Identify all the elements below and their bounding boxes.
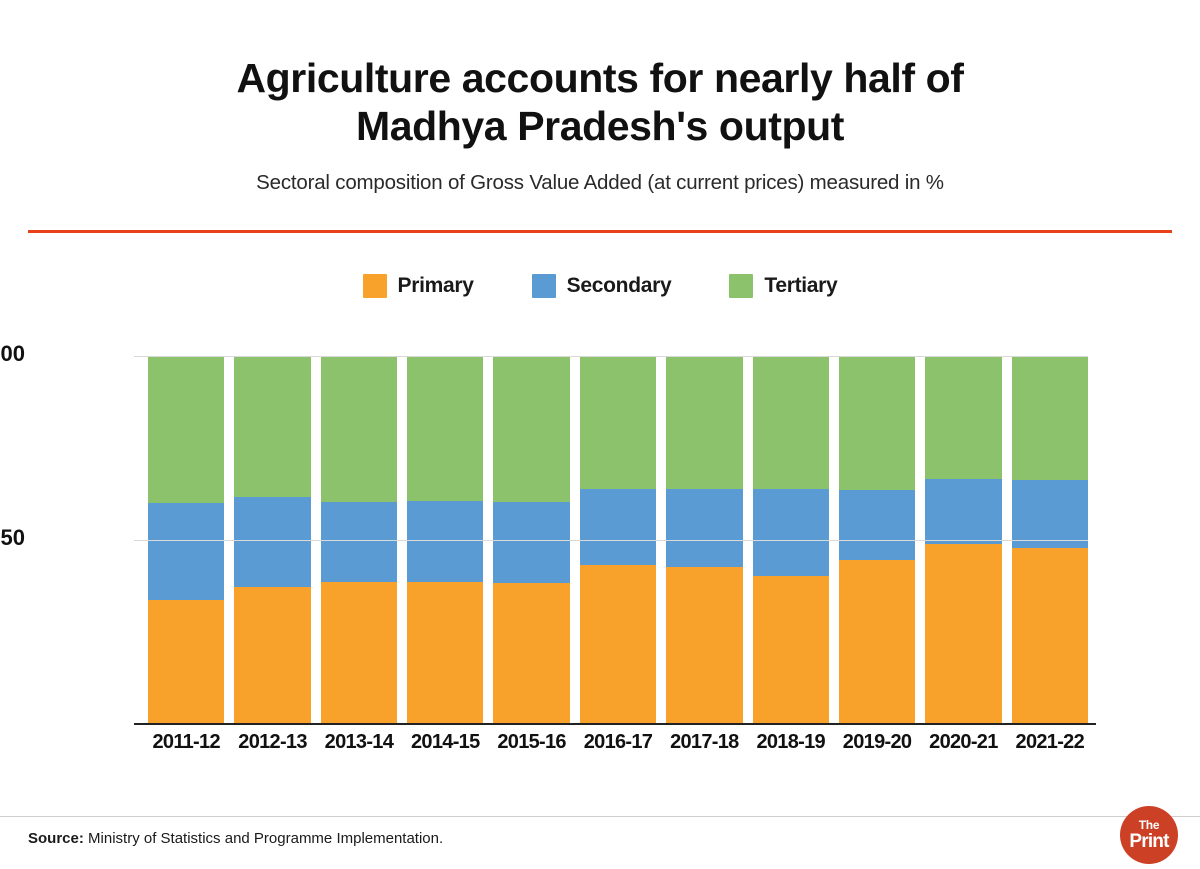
header: Agriculture accounts for nearly half of … bbox=[0, 0, 1200, 195]
legend-label-primary: Primary bbox=[398, 274, 474, 298]
legend-swatch-tertiary-icon bbox=[729, 274, 753, 298]
y-axis-tick-100: 100 bbox=[0, 341, 25, 367]
bar-column[interactable] bbox=[753, 356, 829, 723]
legend-item-secondary[interactable]: Secondary bbox=[532, 274, 672, 298]
logo-the-text: The bbox=[1139, 819, 1159, 831]
bar-segment-tertiary[interactable] bbox=[234, 356, 310, 497]
x-axis-labels: 2011-122012-132013-142014-152015-162016-… bbox=[148, 731, 1088, 754]
bar-segment-primary[interactable] bbox=[493, 583, 569, 723]
bar-segment-primary[interactable] bbox=[407, 582, 483, 723]
bar-segment-secondary[interactable] bbox=[1012, 480, 1088, 548]
bar-segment-primary[interactable] bbox=[666, 567, 742, 723]
bar-segment-tertiary[interactable] bbox=[321, 356, 397, 502]
bar-segment-tertiary[interactable] bbox=[753, 356, 829, 489]
bar-segment-secondary[interactable] bbox=[493, 502, 569, 583]
y-axis-tick-50: 50 bbox=[0, 525, 25, 551]
infographic-page: Agriculture accounts for nearly half of … bbox=[0, 0, 1200, 869]
bar-segment-secondary[interactable] bbox=[234, 497, 310, 587]
x-axis-label: 2015-16 bbox=[493, 731, 569, 754]
bar-column[interactable] bbox=[666, 356, 742, 723]
bar-column[interactable] bbox=[580, 356, 656, 723]
bar-segment-secondary[interactable] bbox=[753, 489, 829, 576]
bar-column[interactable] bbox=[234, 356, 310, 723]
footer-divider bbox=[0, 816, 1200, 817]
legend-label-tertiary: Tertiary bbox=[764, 274, 837, 298]
bar-segment-secondary[interactable] bbox=[925, 479, 1001, 544]
source-text: Ministry of Statistics and Programme Imp… bbox=[88, 830, 443, 847]
source-label: Source: bbox=[28, 830, 84, 847]
x-axis-label: 2013-14 bbox=[321, 731, 397, 754]
bar-segment-primary[interactable] bbox=[925, 544, 1001, 723]
x-axis-line bbox=[134, 723, 1096, 725]
bar-segment-tertiary[interactable] bbox=[839, 356, 915, 490]
x-axis-label: 2019-20 bbox=[839, 731, 915, 754]
gridline-100 bbox=[134, 356, 1088, 357]
bar-segment-primary[interactable] bbox=[1012, 548, 1088, 723]
x-axis-label: 2011-12 bbox=[148, 731, 224, 754]
bar-segment-primary[interactable] bbox=[580, 565, 656, 723]
page-title: Agriculture accounts for nearly half of … bbox=[150, 54, 1050, 150]
x-axis-label: 2017-18 bbox=[666, 731, 742, 754]
x-axis-label: 2014-15 bbox=[407, 731, 483, 754]
bar-group bbox=[148, 356, 1088, 723]
bar-segment-tertiary[interactable] bbox=[580, 356, 656, 489]
bar-segment-primary[interactable] bbox=[753, 576, 829, 723]
legend-item-primary[interactable]: Primary bbox=[363, 274, 474, 298]
bar-segment-tertiary[interactable] bbox=[148, 356, 224, 503]
x-axis-label: 2012-13 bbox=[234, 731, 310, 754]
bar-segment-primary[interactable] bbox=[234, 587, 310, 723]
page-subtitle: Sectoral composition of Gross Value Adde… bbox=[0, 171, 1200, 195]
logo-print-text: Print bbox=[1129, 832, 1168, 851]
bar-segment-secondary[interactable] bbox=[407, 501, 483, 582]
x-axis-label: 2018-19 bbox=[753, 731, 829, 754]
source-note: Source: Ministry of Statistics and Progr… bbox=[28, 830, 443, 847]
bar-segment-tertiary[interactable] bbox=[493, 356, 569, 502]
bar-segment-primary[interactable] bbox=[839, 560, 915, 723]
header-divider bbox=[28, 230, 1172, 233]
x-axis-label: 2021-22 bbox=[1012, 731, 1088, 754]
page-title-line-2: Madhya Pradesh's output bbox=[150, 102, 1050, 150]
x-axis-label: 2020-21 bbox=[925, 731, 1001, 754]
bar-segment-tertiary[interactable] bbox=[1012, 356, 1088, 480]
bar-column[interactable] bbox=[493, 356, 569, 723]
legend-swatch-primary-icon bbox=[363, 274, 387, 298]
bar-segment-tertiary[interactable] bbox=[925, 356, 1001, 479]
bar-segment-tertiary[interactable] bbox=[666, 356, 742, 489]
x-axis-label: 2016-17 bbox=[580, 731, 656, 754]
bar-segment-secondary[interactable] bbox=[666, 489, 742, 567]
bar-segment-secondary[interactable] bbox=[321, 502, 397, 582]
plot-area: 50100 bbox=[148, 356, 1088, 723]
bar-column[interactable] bbox=[1012, 356, 1088, 723]
bar-segment-secondary[interactable] bbox=[148, 503, 224, 600]
bar-segment-secondary[interactable] bbox=[839, 490, 915, 560]
bar-column[interactable] bbox=[839, 356, 915, 723]
bar-column[interactable] bbox=[321, 356, 397, 723]
legend-label-secondary: Secondary bbox=[567, 274, 672, 298]
legend-swatch-secondary-icon bbox=[532, 274, 556, 298]
bar-segment-primary[interactable] bbox=[148, 600, 224, 723]
bar-column[interactable] bbox=[407, 356, 483, 723]
page-title-line-1: Agriculture accounts for nearly half of bbox=[150, 54, 1050, 102]
theprint-logo: The Print bbox=[1120, 806, 1178, 864]
bar-segment-tertiary[interactable] bbox=[407, 356, 483, 501]
legend-item-tertiary[interactable]: Tertiary bbox=[729, 274, 837, 298]
bar-column[interactable] bbox=[148, 356, 224, 723]
bar-column[interactable] bbox=[925, 356, 1001, 723]
chart-legend: PrimarySecondaryTertiary bbox=[0, 274, 1200, 298]
gridline-50 bbox=[134, 540, 1088, 541]
bar-segment-secondary[interactable] bbox=[580, 489, 656, 565]
bar-segment-primary[interactable] bbox=[321, 582, 397, 723]
